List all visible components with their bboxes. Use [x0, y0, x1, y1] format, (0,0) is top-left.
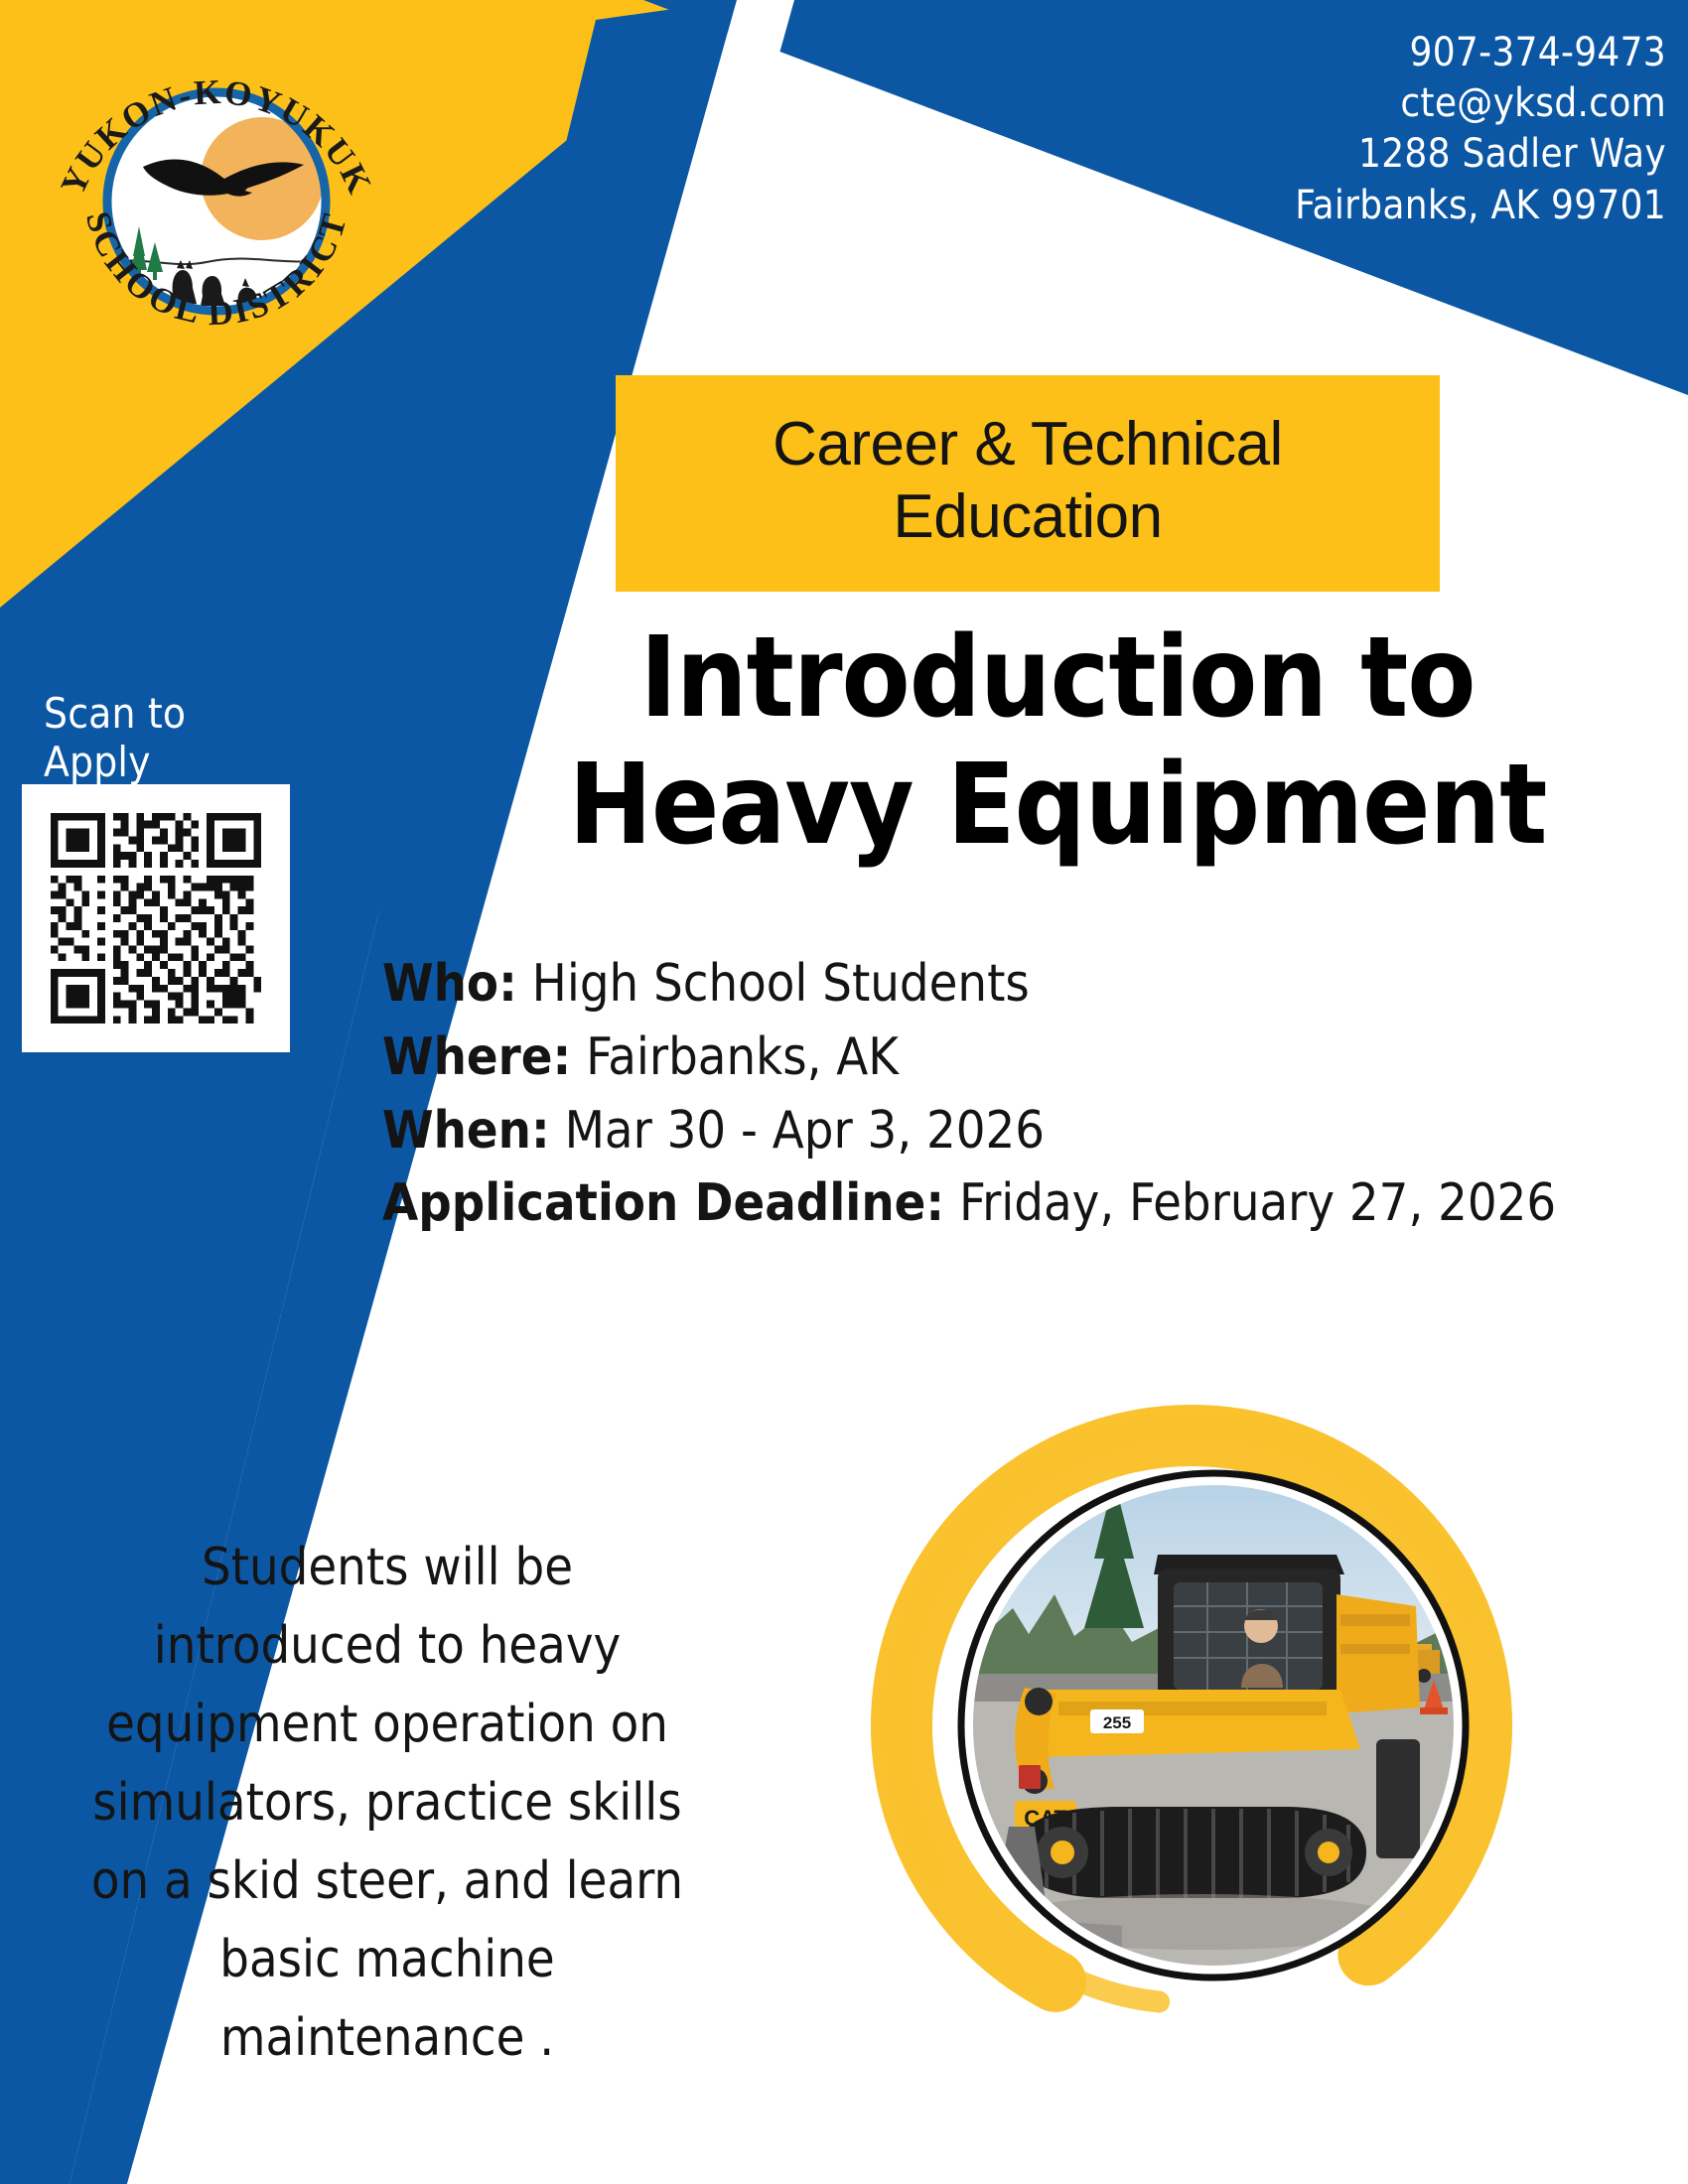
cte-banner-line-1: Career & Technical [773, 408, 1283, 480]
cte-banner-line-2: Education [893, 480, 1162, 553]
district-logo: YUKON-KOYUKUK SCHOOL DISTRICT [48, 40, 385, 367]
contact-info: 907-374-9473 cte@yksd.com 1288 Sadler Wa… [1031, 28, 1666, 231]
cte-banner: Career & Technical Education [616, 375, 1440, 592]
detail-label-who: Who: [382, 954, 517, 1014]
qr-code[interactable] [22, 784, 290, 1052]
contact-email[interactable]: cte@yksd.com [1031, 78, 1666, 129]
detail-label-when: When: [382, 1101, 550, 1160]
flyer-page: YUKON-KOYUKUK SCHOOL DISTRICT 907-374-94… [0, 0, 1688, 2184]
skid-steer-photo: 255 CAT [824, 1360, 1559, 2095]
rear-counterweight [1376, 1739, 1420, 1858]
detail-row-deadline: Application Deadline: Friday, February 2… [382, 1167, 1623, 1241]
scan-to-apply-label: Scan to Apply [44, 689, 302, 786]
contact-city-state-zip: Fairbanks, AK 99701 [1031, 181, 1666, 231]
page-title-line-1: Introduction to [516, 615, 1599, 743]
skid-steer-photo-svg: 255 CAT [824, 1360, 1559, 2095]
event-details-list: Who: High School Students Where: Fairban… [382, 948, 1623, 1241]
detail-label-where: Where: [382, 1027, 571, 1087]
district-logo-svg: YUKON-KOYUKUK SCHOOL DISTRICT [48, 40, 385, 367]
qr-code-icon[interactable] [43, 805, 269, 1031]
detail-row-who: Who: High School Students [382, 948, 1623, 1022]
page-title: Introduction to Heavy Equipment [516, 615, 1599, 869]
detail-value-who: High School Students [532, 954, 1030, 1014]
contact-street: 1288 Sadler Way [1031, 129, 1666, 180]
detail-row-when: When: Mar 30 - Apr 3, 2026 [382, 1095, 1623, 1168]
detail-row-where: Where: Fairbanks, AK [382, 1022, 1623, 1095]
contact-phone[interactable]: 907-374-9473 [1031, 28, 1666, 78]
detail-label-deadline: Application Deadline: [382, 1173, 944, 1233]
detail-value-where: Fairbanks, AK [586, 1027, 899, 1087]
page-title-line-2: Heavy Equipment [516, 743, 1599, 870]
machine-model-label: 255 [1103, 1713, 1131, 1732]
chassis [1037, 1690, 1360, 1757]
detail-value-deadline: Friday, February 27, 2026 [959, 1173, 1556, 1233]
course-description: Students will be introduced to heavy equ… [70, 1529, 705, 2078]
detail-value-when: Mar 30 - Apr 3, 2026 [565, 1101, 1046, 1160]
